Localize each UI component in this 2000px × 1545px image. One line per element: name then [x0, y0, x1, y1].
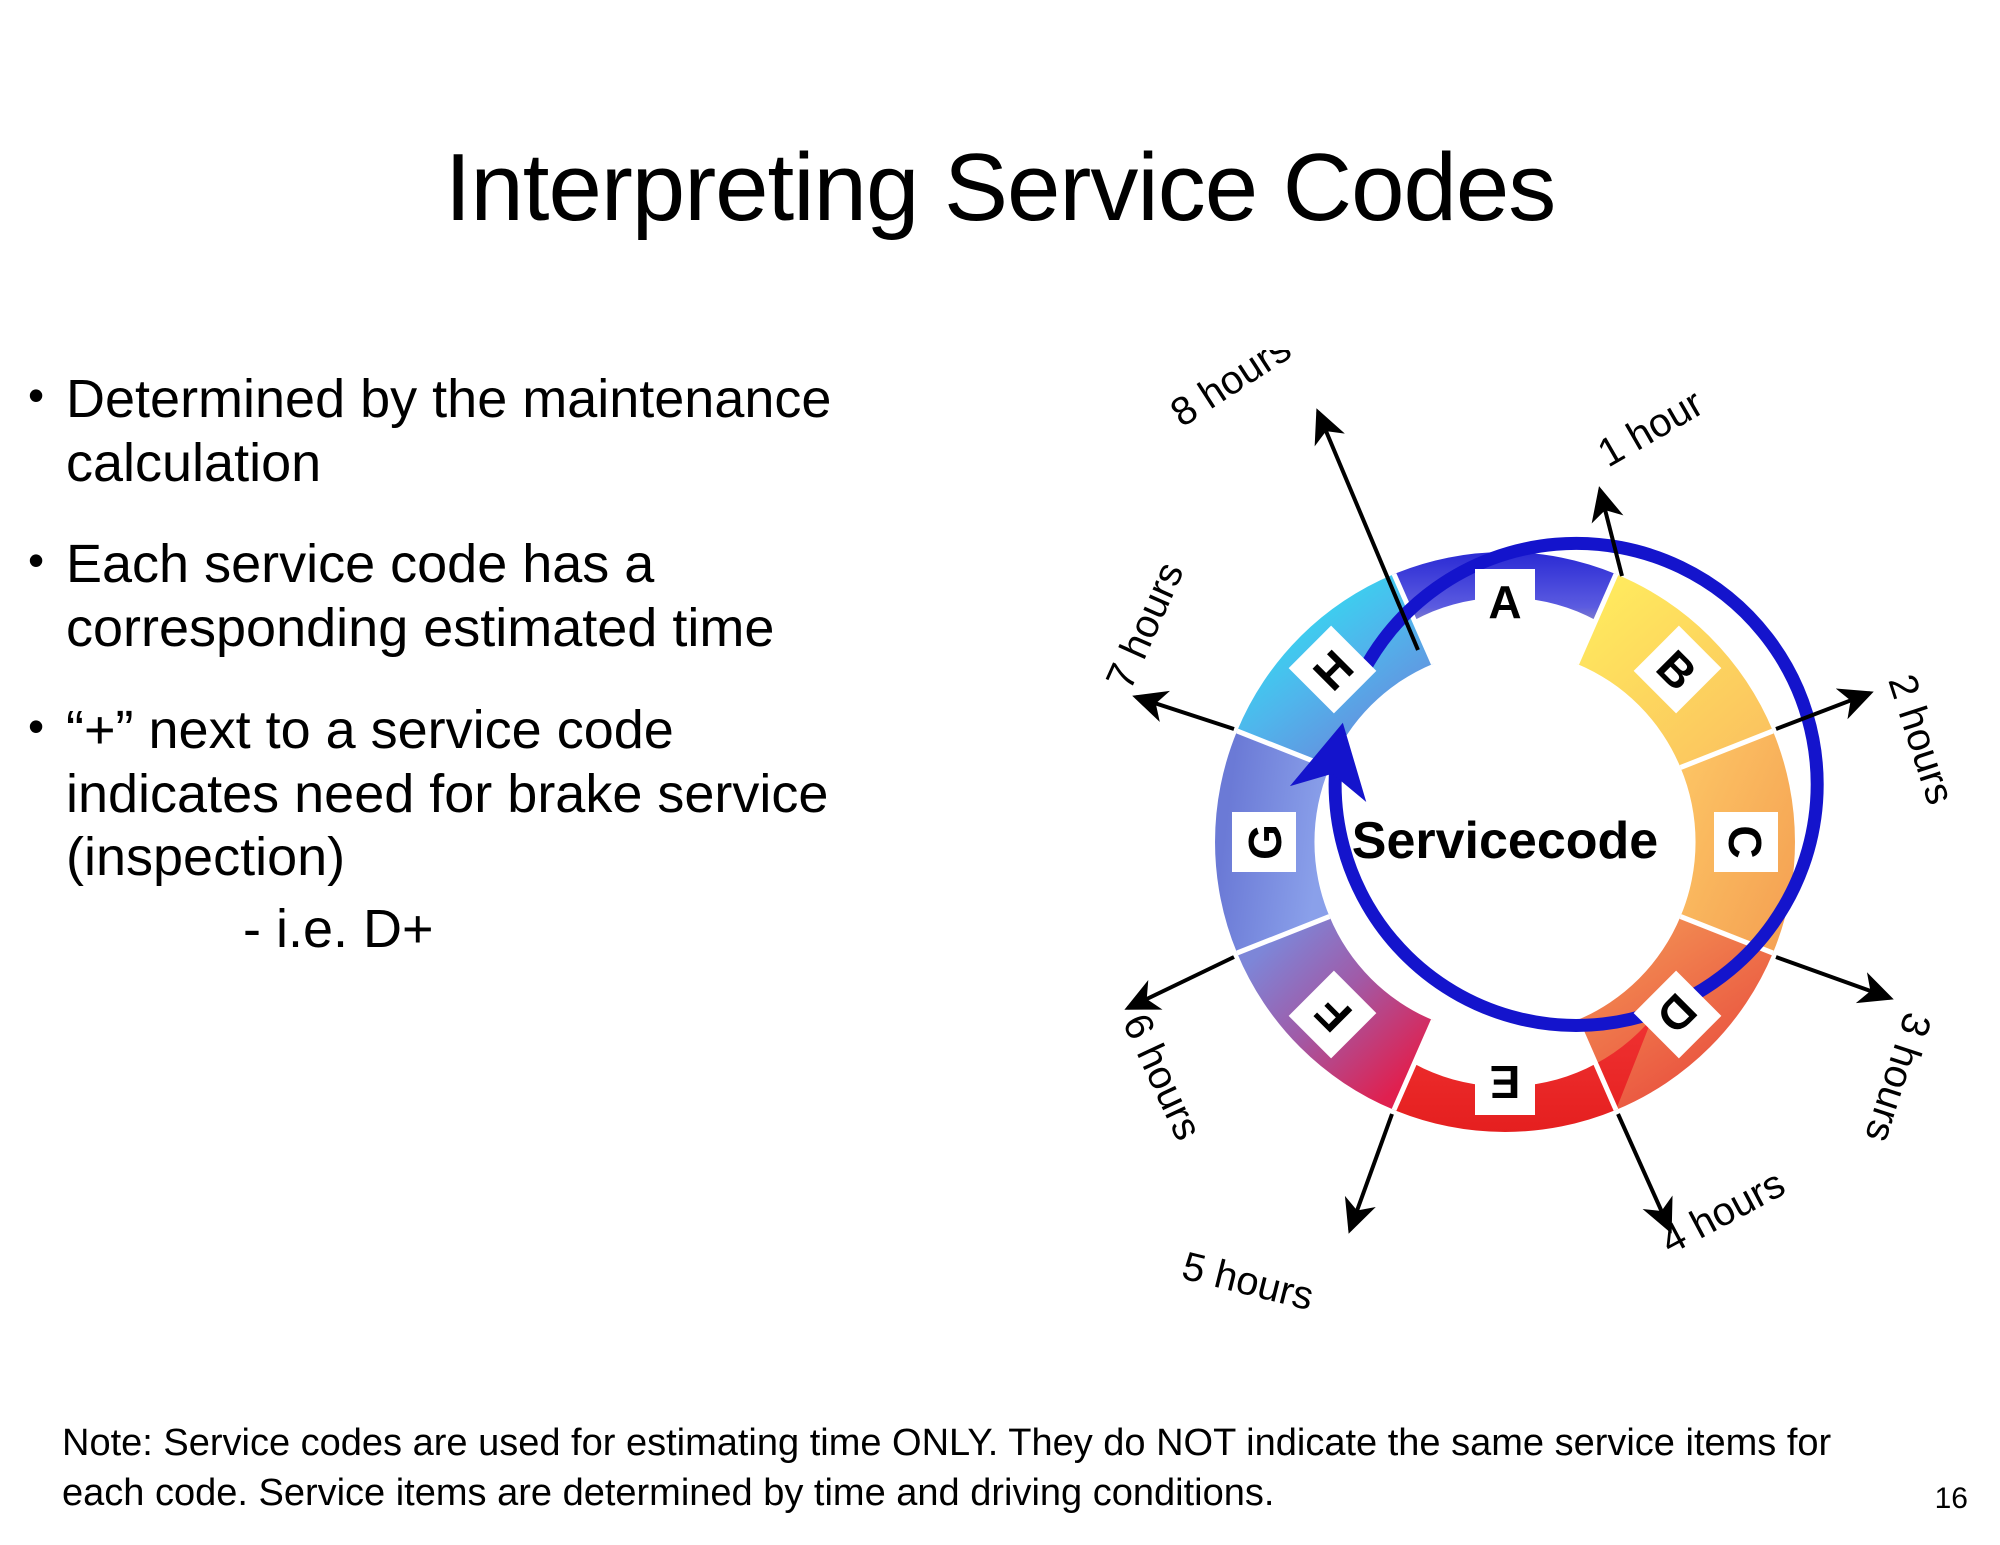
leader-line-3-hours [1776, 957, 1890, 998]
leader-line-4-hours [1618, 1114, 1670, 1230]
hour-label-1: 1 hour [1591, 381, 1711, 476]
hour-label-6: 6 hours [1114, 1007, 1210, 1147]
hour-label-3: 3 hours [1856, 1007, 1939, 1147]
bullet-text: Each service code has a corresponding es… [66, 533, 858, 660]
hour-label-2: 2 hours [1879, 669, 1962, 809]
leader-line-6-hours [1128, 957, 1234, 1008]
page-number: 16 [1935, 1482, 1968, 1516]
bullet-text: Determined by the maintenance calculatio… [66, 368, 858, 495]
leader-line-7-hours [1136, 697, 1234, 729]
list-item: • Each service code has a corresponding … [28, 533, 858, 660]
list-item: • “+” next to a service code indicates n… [28, 699, 858, 890]
code-letter-a: A [1488, 576, 1521, 628]
leader-line-1-hour [1600, 490, 1622, 576]
leader-line-5-hours [1350, 1114, 1392, 1230]
leader-line-2-hours [1776, 693, 1870, 729]
slide-canvas: Interpreting Service Codes • Determined … [0, 0, 2000, 1545]
list-item: • Determined by the maintenance calculat… [28, 368, 858, 495]
chart-center-label: Servicecode [1352, 812, 1658, 870]
footnote-text: Note: Service codes are used for estimat… [62, 1418, 1892, 1518]
bullet-marker-icon: • [28, 368, 66, 422]
bullet-marker-icon: • [28, 533, 66, 587]
page-title: Interpreting Service Codes [0, 140, 2000, 236]
bullet-text: “+” next to a service code indicates nee… [66, 699, 858, 890]
hour-label-5: 5 hours [1178, 1244, 1318, 1319]
servicecode-donut-chart: A B C D [1010, 350, 2000, 1410]
code-letter-g: G [1239, 824, 1291, 860]
code-letter-c: C [1719, 825, 1771, 858]
code-letter-e: E [1490, 1056, 1521, 1108]
hour-label-7: 7 hours [1098, 556, 1192, 696]
bullet-list: • Determined by the maintenance calculat… [28, 368, 858, 962]
bullet-marker-icon: • [28, 699, 66, 753]
hour-label-4: 4 hours [1654, 1161, 1792, 1262]
hour-label-8: 8 hours [1163, 350, 1299, 436]
sub-note-text: - i.e. D+ [243, 898, 858, 962]
